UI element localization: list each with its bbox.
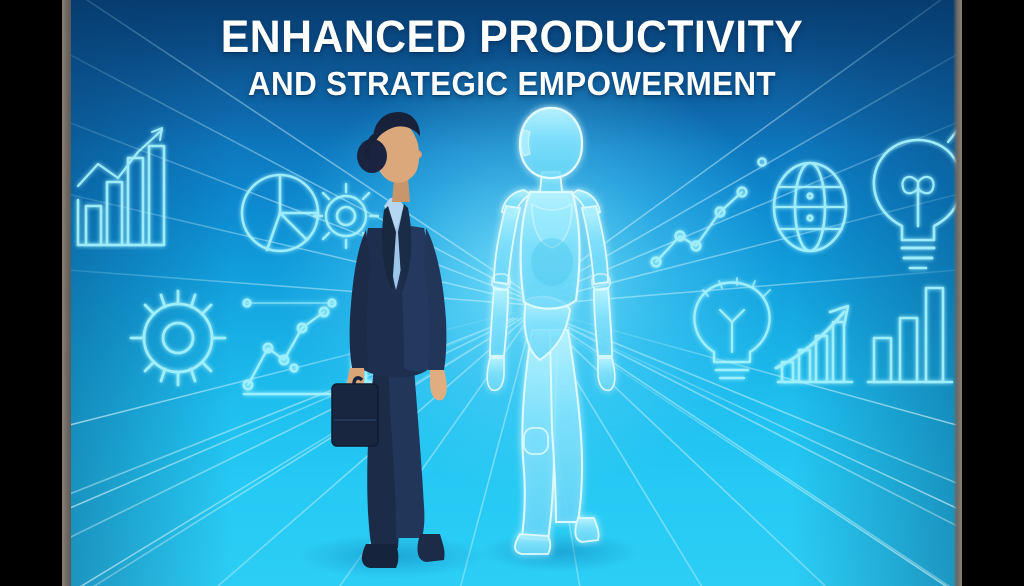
letterbox-right — [962, 0, 1024, 586]
briefcase — [332, 378, 378, 446]
letterbox-left — [0, 0, 62, 586]
left-edge-strip — [62, 0, 71, 586]
ai-shadow — [480, 532, 640, 572]
shoe-left — [362, 544, 398, 568]
right-edge-strip — [953, 0, 962, 586]
poster-artwork: ENHANCED PRODUCTIVITY AND STRATEGIC EMPO… — [62, 0, 962, 586]
businesswoman-figure — [332, 112, 447, 568]
figures-overlay — [62, 0, 962, 586]
ai-humanoid-figure — [487, 108, 615, 554]
hand-right — [430, 370, 447, 400]
shoe-right — [418, 534, 445, 562]
arm-left — [350, 230, 370, 368]
poster-stage: ENHANCED PRODUCTIVITY AND STRATEGIC EMPO… — [0, 0, 1024, 586]
